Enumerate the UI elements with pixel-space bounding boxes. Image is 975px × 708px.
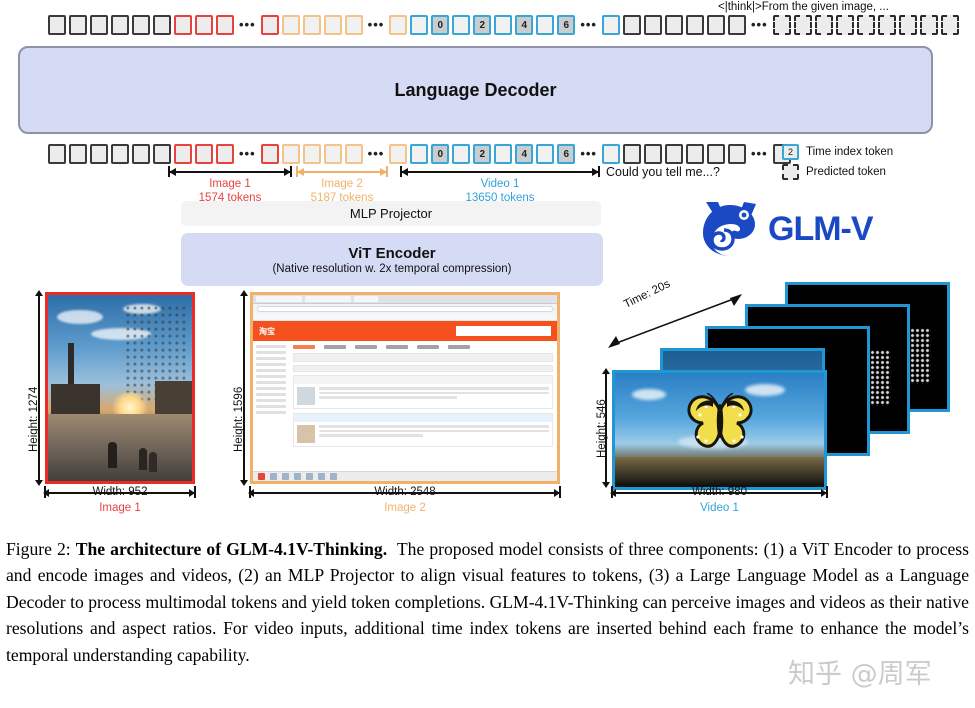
legend: 2 Time index token Predicted token (782, 143, 893, 183)
image-1-token (216, 15, 234, 35)
video-1-token (410, 144, 428, 164)
prompt-token (665, 144, 683, 164)
caption-bold-title: The architecture of GLM-4.1V-Thinking. (76, 539, 387, 559)
video-1-name-label: Video 1 (612, 502, 827, 514)
arrow-up-icon (602, 368, 610, 374)
legend-label-predicted: Predicted token (806, 166, 886, 178)
video-1-token (602, 15, 620, 35)
glm-v-wordmark: GLM-V (768, 210, 873, 249)
time-index-token: 4 (515, 144, 533, 164)
image-1-token (195, 15, 213, 35)
span-image-2: Image 2 5187 tokens (296, 166, 388, 205)
chameleon-logo-icon (700, 200, 762, 258)
time-index-token-swatch: 2 (782, 144, 799, 160)
prompt-token (623, 15, 641, 35)
image-2-token (324, 144, 342, 164)
arrow-up-icon (35, 290, 43, 296)
ellipsis-dots: ••• (749, 149, 770, 159)
text-token (48, 144, 66, 164)
figure-caption: Figure 2: The architecture of GLM-4.1V-T… (6, 536, 969, 668)
image-2-token (389, 15, 407, 35)
ellipsis-dots: ••• (237, 149, 258, 159)
video-1-token (494, 15, 512, 35)
image-1-token (216, 144, 234, 164)
ellipsis-dots: ••• (366, 149, 387, 159)
video-1-token (452, 15, 470, 35)
prompt-token (728, 15, 746, 35)
image-2-token (324, 15, 342, 35)
prompt-token (707, 144, 725, 164)
image-2-width-label: Width: 2548 (250, 486, 560, 498)
mlp-projector-block: MLP Projector (181, 201, 601, 226)
video-1-token (602, 144, 620, 164)
video-1-token (536, 15, 554, 35)
image-2-token (389, 144, 407, 164)
predicted-token (857, 15, 875, 35)
image-1-token (261, 144, 279, 164)
text-token (69, 144, 87, 164)
image-1-thumbnail (45, 292, 195, 484)
glm-v-logo: GLM-V (700, 198, 930, 260)
text-token (48, 15, 66, 35)
prompt-token (707, 15, 725, 35)
image-2-height-label: Height: 1596 (233, 387, 245, 452)
vit-encoder-subtitle: (Native resolution w. 2x temporal compre… (272, 263, 511, 275)
video-1-token (452, 144, 470, 164)
arrow-down-icon (35, 480, 43, 486)
ellipsis-dots: ••• (578, 20, 599, 30)
predicted-token (773, 15, 791, 35)
text-token (132, 144, 150, 164)
figure-diagram: <|think|>From the given image, ... •••••… (0, 0, 975, 535)
time-index-token: 6 (557, 15, 575, 35)
prompt-token (644, 144, 662, 164)
time-index-token: 0 (431, 15, 449, 35)
text-token (132, 15, 150, 35)
video-1-width-label: Width: 980 (612, 486, 827, 498)
time-index-token: 2 (473, 15, 491, 35)
prompt-token (686, 144, 704, 164)
think-output-label: <|think|>From the given image, ... (718, 1, 889, 13)
vit-encoder-title: ViT Encoder (348, 245, 435, 262)
watermark: 知乎 @周军 (788, 652, 932, 691)
prompt-token (728, 144, 746, 164)
input-token-row: ••••••0246•••••• (48, 143, 791, 165)
image-1-name-label: Image 1 (45, 502, 195, 514)
image-2-name-label: Image 2 (250, 502, 560, 514)
image-2-token (345, 144, 363, 164)
image-2-token (303, 144, 321, 164)
span-image-2-name: Image 2 (296, 178, 388, 191)
text-token (90, 144, 108, 164)
prompt-text-label: Could you tell me...? (606, 165, 720, 179)
video-1-token (536, 144, 554, 164)
text-token (153, 144, 171, 164)
output-token-row: ••••••0246•••••• (48, 14, 959, 36)
text-token (111, 144, 129, 164)
text-token (90, 15, 108, 35)
arrow-up-icon (240, 290, 248, 296)
text-token (153, 15, 171, 35)
span-image-1-name: Image 1 (168, 178, 292, 191)
arrow-down-icon (240, 480, 248, 486)
video-1-token (410, 15, 428, 35)
ellipsis-dots: ••• (578, 149, 599, 159)
time-index-token: 2 (473, 144, 491, 164)
prompt-token (623, 144, 641, 164)
ellipsis-dots: ••• (749, 20, 770, 30)
arrow-down-icon (602, 482, 610, 488)
span-video-1-name: Video 1 (400, 178, 600, 191)
video-1-token (494, 144, 512, 164)
text-token (69, 15, 87, 35)
image-2-token (282, 144, 300, 164)
image-2-thumbnail: 淘宝 (250, 292, 560, 484)
ellipsis-dots: ••• (237, 20, 258, 30)
vit-encoder-block: ViT Encoder (Native resolution w. 2x tem… (181, 233, 603, 286)
image-2-token (303, 15, 321, 35)
image-2-token (282, 15, 300, 35)
image-1-token (174, 144, 192, 164)
butterfly-icon (683, 393, 757, 449)
predicted-token (941, 15, 959, 35)
predicted-token-swatch (782, 164, 799, 180)
image-1-token (174, 15, 192, 35)
video-frame-1 (612, 370, 827, 490)
time-index-token: 6 (557, 144, 575, 164)
image-2-photo: 淘宝 (253, 295, 557, 481)
legend-item-time-index: 2 Time index token (782, 143, 893, 160)
image-2-token (345, 15, 363, 35)
span-image-1: Image 1 1574 tokens (168, 166, 292, 205)
predicted-token (794, 15, 812, 35)
language-decoder-block: Language Decoder (18, 46, 933, 134)
predicted-token (836, 15, 854, 35)
predicted-token (878, 15, 896, 35)
legend-item-predicted: Predicted token (782, 163, 893, 180)
legend-label-time-index: Time index token (806, 146, 893, 158)
predicted-token (899, 15, 917, 35)
caption-prefix: Figure 2: (6, 539, 71, 559)
image-1-token (195, 144, 213, 164)
text-token (111, 15, 129, 35)
predicted-token (815, 15, 833, 35)
prompt-token (665, 15, 683, 35)
video-1-height-label: Height: 546 (596, 399, 608, 458)
prompt-token (686, 15, 704, 35)
time-index-token: 4 (515, 15, 533, 35)
ellipsis-dots: ••• (366, 20, 387, 30)
image-1-width-label: Width: 952 (45, 486, 195, 498)
image-1-height-label: Height: 1274 (28, 387, 40, 452)
image-1-token (261, 15, 279, 35)
span-video-1: Video 1 13650 tokens (400, 166, 600, 205)
image-1-photo (48, 295, 192, 481)
time-index-token: 0 (431, 144, 449, 164)
predicted-token (920, 15, 938, 35)
prompt-token (644, 15, 662, 35)
